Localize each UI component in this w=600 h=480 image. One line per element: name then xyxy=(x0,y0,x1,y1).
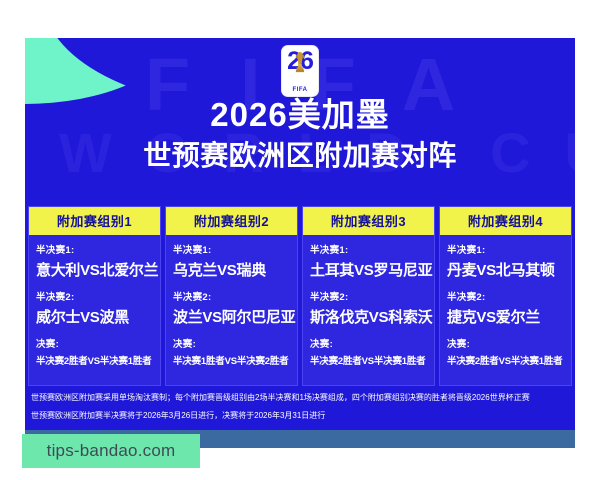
group-3-final-label: 决赛: xyxy=(310,336,429,350)
group-1-final-label: 决赛: xyxy=(36,336,155,350)
group-1-semi2-label: 半决赛2: xyxy=(36,289,155,303)
group-2-semi1-label: 半决赛1: xyxy=(173,242,292,256)
group-4-semi2-match: 捷克VS爱尔兰 xyxy=(447,306,566,327)
page-subtitle: 世预赛欧洲区附加赛对阵 xyxy=(25,142,575,170)
fifa-26-emblem: 26 FIFA xyxy=(282,46,318,96)
world-cup-playoff-poster: FIFA WORLD CUP 26 26 FIFA 2026美加墨 世预赛欧洲区… xyxy=(25,38,575,448)
footnote-dates: 世预赛欧洲区附加赛半决赛将于2026年3月26日进行，决赛将于2026年3月31… xyxy=(31,412,569,421)
group-1-semi1-match: 意大利VS北爱尔兰 xyxy=(36,259,155,280)
playoff-group-3: 附加赛组别3 半决赛1: 土耳其VS罗马尼亚 半决赛2: 斯洛伐克VS科索沃 决… xyxy=(302,206,435,386)
emblem-org-label: FIFA xyxy=(282,87,318,93)
playoff-group-4: 附加赛组别4 半决赛1: 丹麦VS北马其顿 半决赛2: 捷克VS爱尔兰 决赛: … xyxy=(439,206,572,386)
footnote-format: 世预赛欧洲区附加赛采用单场淘汰赛制；每个附加赛晋级组别由2场半决赛和1场决赛组成… xyxy=(31,394,569,403)
playoff-group-1: 附加赛组别1 半决赛1: 意大利VS北爱尔兰 半决赛2: 威尔士VS波黑 决赛:… xyxy=(28,206,161,386)
group-4-semi2-label: 半决赛2: xyxy=(447,289,566,303)
fifa-trophy-icon xyxy=(293,50,307,80)
group-2-final-label: 决赛: xyxy=(173,336,292,350)
site-watermark: tips-bandao.com xyxy=(22,434,200,468)
group-4-final-label: 决赛: xyxy=(447,336,566,350)
page-title: 2026美加墨 xyxy=(25,98,575,131)
group-4-final-match: 半决赛2胜者VS半决赛1胜者 xyxy=(447,353,566,367)
group-2-semi1-match: 乌克兰VS瑞典 xyxy=(173,259,292,280)
group-2-final-match: 半决赛1胜者VS半决赛2胜者 xyxy=(173,353,292,367)
group-4-semi1-label: 半决赛1: xyxy=(447,242,566,256)
group-4-body: 半决赛1: 丹麦VS北马其顿 半决赛2: 捷克VS爱尔兰 决赛: 半决赛2胜者V… xyxy=(440,235,571,385)
footnotes: 世预赛欧洲区附加赛采用单场淘汰赛制；每个附加赛晋级组别由2场半决赛和1场决赛组成… xyxy=(25,394,575,430)
group-1-final-match: 半决赛2胜者VS半决赛1胜者 xyxy=(36,353,155,367)
group-2-semi2-label: 半决赛2: xyxy=(173,289,292,303)
group-2-semi2-match: 波兰VS阿尔巴尼亚 xyxy=(173,306,292,327)
group-1-semi2-match: 威尔士VS波黑 xyxy=(36,306,155,327)
group-4-header: 附加赛组别4 xyxy=(440,207,571,235)
group-4-semi1-match: 丹麦VS北马其顿 xyxy=(447,259,566,280)
group-3-semi2-label: 半决赛2: xyxy=(310,289,429,303)
group-2-body: 半决赛1: 乌克兰VS瑞典 半决赛2: 波兰VS阿尔巴尼亚 决赛: 半决赛1胜者… xyxy=(166,235,297,385)
playoff-group-2: 附加赛组别2 半决赛1: 乌克兰VS瑞典 半决赛2: 波兰VS阿尔巴尼亚 决赛:… xyxy=(165,206,298,386)
group-1-body: 半决赛1: 意大利VS北爱尔兰 半决赛2: 威尔士VS波黑 决赛: 半决赛2胜者… xyxy=(29,235,160,385)
group-3-semi1-label: 半决赛1: xyxy=(310,242,429,256)
group-1-header: 附加赛组别1 xyxy=(29,207,160,235)
playoff-groups-container: 附加赛组别1 半决赛1: 意大利VS北爱尔兰 半决赛2: 威尔士VS波黑 决赛:… xyxy=(25,206,575,386)
group-3-semi1-match: 土耳其VS罗马尼亚 xyxy=(310,259,429,280)
group-3-semi2-match: 斯洛伐克VS科索沃 xyxy=(310,306,429,327)
group-3-body: 半决赛1: 土耳其VS罗马尼亚 半决赛2: 斯洛伐克VS科索沃 决赛: 半决赛2… xyxy=(303,235,434,385)
group-1-semi1-label: 半决赛1: xyxy=(36,242,155,256)
group-2-header: 附加赛组别2 xyxy=(166,207,297,235)
group-3-header: 附加赛组别3 xyxy=(303,207,434,235)
site-watermark-text: tips-bandao.com xyxy=(47,441,176,461)
group-3-final-match: 半决赛2胜者VS半决赛1胜者 xyxy=(310,353,429,367)
